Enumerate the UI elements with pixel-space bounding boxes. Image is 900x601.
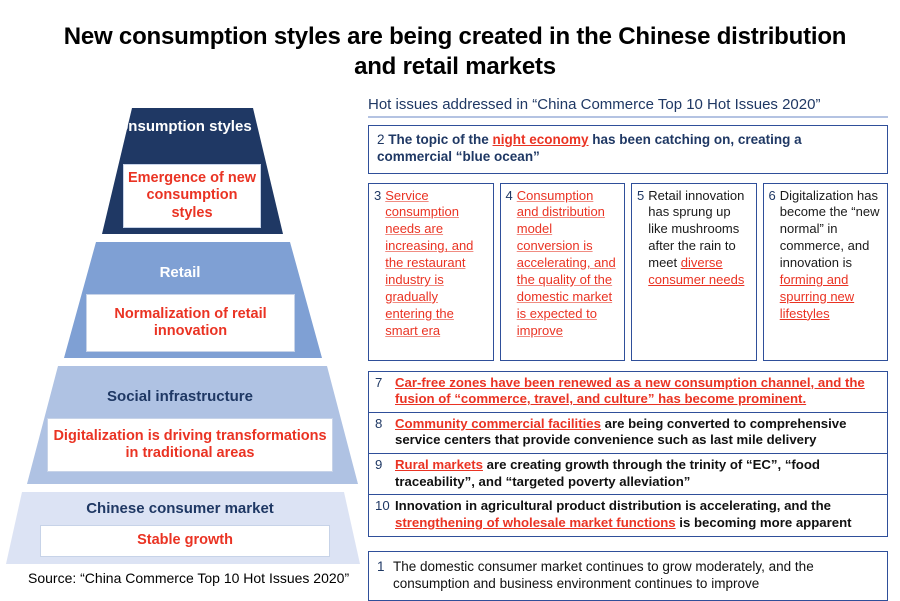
source-note: Source: “China Commerce Top 10 Hot Issue… (28, 570, 349, 586)
item-highlight-text: Consumption and distribution model conve… (517, 188, 618, 340)
item-text: Community commercial facilities are bein… (395, 416, 880, 449)
item-text: Innovation in agricultural product distr… (395, 498, 880, 531)
item-highlight-text: Service consumption needs are increasing… (385, 188, 486, 340)
item-number: 4 (506, 188, 513, 205)
hot-issue-item-3: 3 Service consumption needs are increasi… (368, 183, 494, 361)
hot-issues-panel: Hot issues addressed in “China Commerce … (368, 96, 888, 601)
pyramid-layer2-statement: Normalization of retail innovation (86, 294, 295, 352)
page-title: New consumption styles are being created… (40, 22, 870, 82)
hot-issue-list: 7 Car-free zones have been renewed as a … (368, 371, 888, 537)
pyramid-layer3-statement: Digitalization is driving transformation… (47, 418, 333, 472)
hot-issue-item-10: 10 Innovation in agricultural product di… (368, 494, 888, 536)
hot-issue-item-4: 4 Consumption and distribution model con… (500, 183, 626, 361)
item-number: 9 (375, 457, 395, 474)
pyramid-layer-retail: Retail Normalization of retail innovatio… (0, 242, 360, 358)
item-text: Retail innovation has sprung up like mus… (648, 188, 749, 289)
item-text: Digitalization has become the “new norma… (780, 188, 881, 323)
pyramid-layer-consumption-styles: Consumption styles Emergence of new cons… (0, 108, 360, 234)
item-number: 3 (374, 188, 381, 205)
item-text: The topic of the night economy has been … (377, 132, 802, 164)
item-number: 6 (769, 188, 776, 205)
item-highlight-text: strengthening of wholesale market functi… (395, 515, 676, 530)
item-number: 5 (637, 188, 644, 205)
item-text: The domestic consumer market continues t… (393, 558, 879, 593)
item-highlight-text: Rural markets (395, 457, 483, 472)
hot-issue-item-2: 2 The topic of the night economy has bee… (368, 125, 888, 174)
item-text: Car-free zones have been renewed as a ne… (395, 375, 880, 408)
panel-header: Hot issues addressed in “China Commerce … (368, 96, 888, 118)
item-number: 10 (375, 498, 395, 515)
item-highlight-text: Car-free zones have been renewed as a ne… (395, 375, 865, 407)
item-highlight-text: forming and spurring new lifestyles (780, 272, 854, 321)
pyramid-layer1-statement: Emergence of new consumption styles (123, 164, 261, 228)
hot-issue-item-7: 7 Car-free zones have been renewed as a … (368, 371, 888, 412)
item-number: 2 (377, 131, 385, 148)
hot-issue-columns: 3 Service consumption needs are increasi… (368, 183, 888, 361)
pyramid-layer4-statement: Stable growth (40, 525, 330, 557)
item-highlight-text: Community commercial facilities (395, 416, 601, 431)
pyramid-layer1-label: Consumption styles (0, 118, 360, 137)
hot-issue-item-6: 6 Digitalization has become the “new nor… (763, 183, 889, 361)
item-pre-text: The topic of the (388, 132, 492, 147)
pyramid-layer-social-infrastructure: Social infrastructure Digitalization is … (0, 366, 360, 484)
item-number: 1 (377, 558, 393, 576)
item-highlight-text: night economy (493, 132, 589, 147)
pyramid-diagram: Consumption styles Emergence of new cons… (0, 100, 360, 565)
hot-issue-item-1: 1 The domestic consumer market continues… (368, 551, 888, 601)
hot-issue-item-9: 9 Rural markets are creating growth thro… (368, 453, 888, 494)
pyramid-layer2-label: Retail (0, 264, 360, 281)
hot-issue-item-5: 5 Retail innovation has sprung up like m… (631, 183, 757, 361)
hot-issue-item-8: 8 Community commercial facilities are be… (368, 412, 888, 453)
item-post-text: is becoming more apparent (676, 515, 852, 530)
item-number: 7 (375, 375, 395, 392)
pyramid-layer3-label: Social infrastructure (0, 388, 360, 405)
pyramid-layer-chinese-consumer-market: Chinese consumer market Stable growth (0, 492, 360, 564)
item-pre-text: Innovation in agricultural product distr… (395, 498, 831, 513)
item-number: 8 (375, 416, 395, 433)
item-pre-text: Digitalization has become the “new norma… (780, 188, 880, 271)
pyramid-layer4-label: Chinese consumer market (0, 500, 360, 517)
item-text: Rural markets are creating growth throug… (395, 457, 880, 490)
